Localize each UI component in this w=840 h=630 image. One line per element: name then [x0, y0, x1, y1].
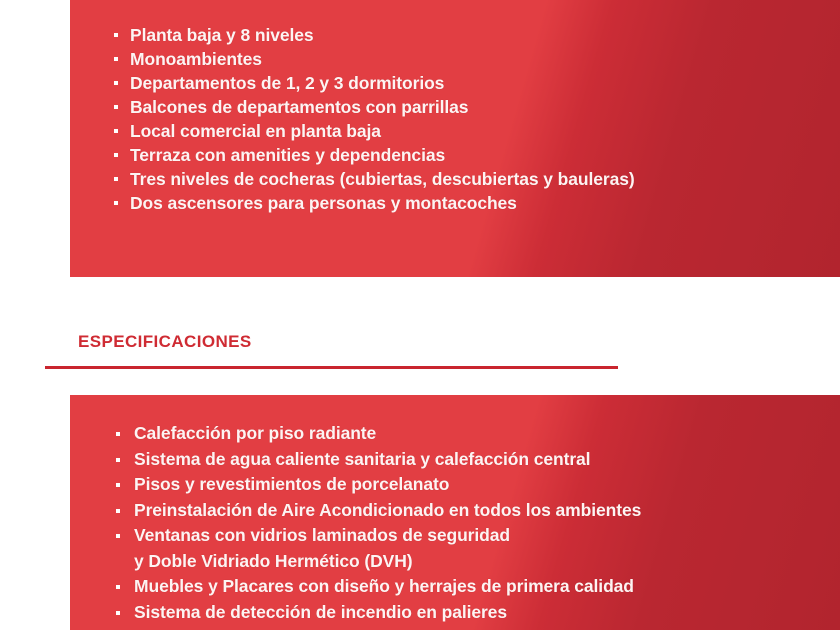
- bullet-icon: [116, 611, 120, 615]
- list-item: Terraza con amenities y dependencias: [110, 143, 635, 167]
- list-item-label: Monoambientes: [130, 49, 262, 69]
- bullet-icon: [114, 153, 118, 157]
- list-item-label: Calefacción por piso radiante: [134, 423, 376, 443]
- bullet-icon: [116, 509, 120, 513]
- list-item-label: Muebles y Placares con diseño y herrajes…: [134, 576, 634, 596]
- list-item-label: Preinstalación de Aire Acondicionado en …: [134, 500, 641, 520]
- list-item-continuation: y Doble Vidriado Hermético (DVH): [110, 549, 641, 575]
- list-item: Departamentos de 1, 2 y 3 dormitorios: [110, 71, 635, 95]
- list-item-label: Local comercial en planta baja: [130, 121, 381, 141]
- list-item-label: Departamentos de 1, 2 y 3 dormitorios: [130, 73, 444, 93]
- bullet-icon: [114, 57, 118, 61]
- brochure-page: Planta baja y 8 niveles Monoambientes De…: [0, 0, 840, 630]
- bullet-icon: [114, 201, 118, 205]
- bullet-icon: [114, 81, 118, 85]
- bullet-icon: [114, 33, 118, 37]
- list-item: Tres niveles de cocheras (cubiertas, des…: [110, 167, 635, 191]
- specifications-list: Calefacción por piso radiante Sistema de…: [110, 421, 641, 625]
- bullet-icon: [116, 585, 120, 589]
- list-item: Muebles y Placares con diseño y herrajes…: [110, 574, 641, 600]
- list-item-label: Ventanas con vidrios laminados de seguri…: [134, 525, 510, 545]
- bullet-icon: [116, 483, 120, 487]
- bullet-icon: [116, 534, 120, 538]
- list-item: Sistema de detección de incendio en pali…: [110, 600, 641, 626]
- list-item-label: y Doble Vidriado Hermético (DVH): [134, 551, 412, 571]
- bullet-icon: [114, 105, 118, 109]
- bullet-icon: [114, 177, 118, 181]
- list-item: Local comercial en planta baja: [110, 119, 635, 143]
- list-item: Balcones de departamentos con parrillas: [110, 95, 635, 119]
- list-item-label: Pisos y revestimientos de porcelanato: [134, 474, 449, 494]
- list-item-label: Planta baja y 8 niveles: [130, 25, 314, 45]
- section-title-underline: [45, 366, 618, 369]
- bullet-icon: [114, 129, 118, 133]
- list-item-label: Sistema de detección de incendio en pali…: [134, 602, 507, 622]
- section-title-especificaciones: ESPECIFICACIONES: [78, 332, 252, 352]
- list-item: Sistema de agua caliente sanitaria y cal…: [110, 447, 641, 473]
- list-item-label: Sistema de agua caliente sanitaria y cal…: [134, 449, 590, 469]
- list-item-label: Balcones de departamentos con parrillas: [130, 97, 468, 117]
- list-item-label: Dos ascensores para personas y montacoch…: [130, 193, 517, 213]
- bullet-icon: [116, 432, 120, 436]
- list-item: Ventanas con vidrios laminados de seguri…: [110, 523, 641, 549]
- list-item: Calefacción por piso radiante: [110, 421, 641, 447]
- list-item: Planta baja y 8 niveles: [110, 23, 635, 47]
- list-item: Preinstalación de Aire Acondicionado en …: [110, 498, 641, 524]
- list-item-label: Tres niveles de cocheras (cubiertas, des…: [130, 169, 635, 189]
- bullet-icon: [116, 458, 120, 462]
- features-list: Planta baja y 8 niveles Monoambientes De…: [110, 23, 635, 215]
- list-item: Pisos y revestimientos de porcelanato: [110, 472, 641, 498]
- list-item: Monoambientes: [110, 47, 635, 71]
- list-item: Dos ascensores para personas y montacoch…: [110, 191, 635, 215]
- list-item-label: Terraza con amenities y dependencias: [130, 145, 445, 165]
